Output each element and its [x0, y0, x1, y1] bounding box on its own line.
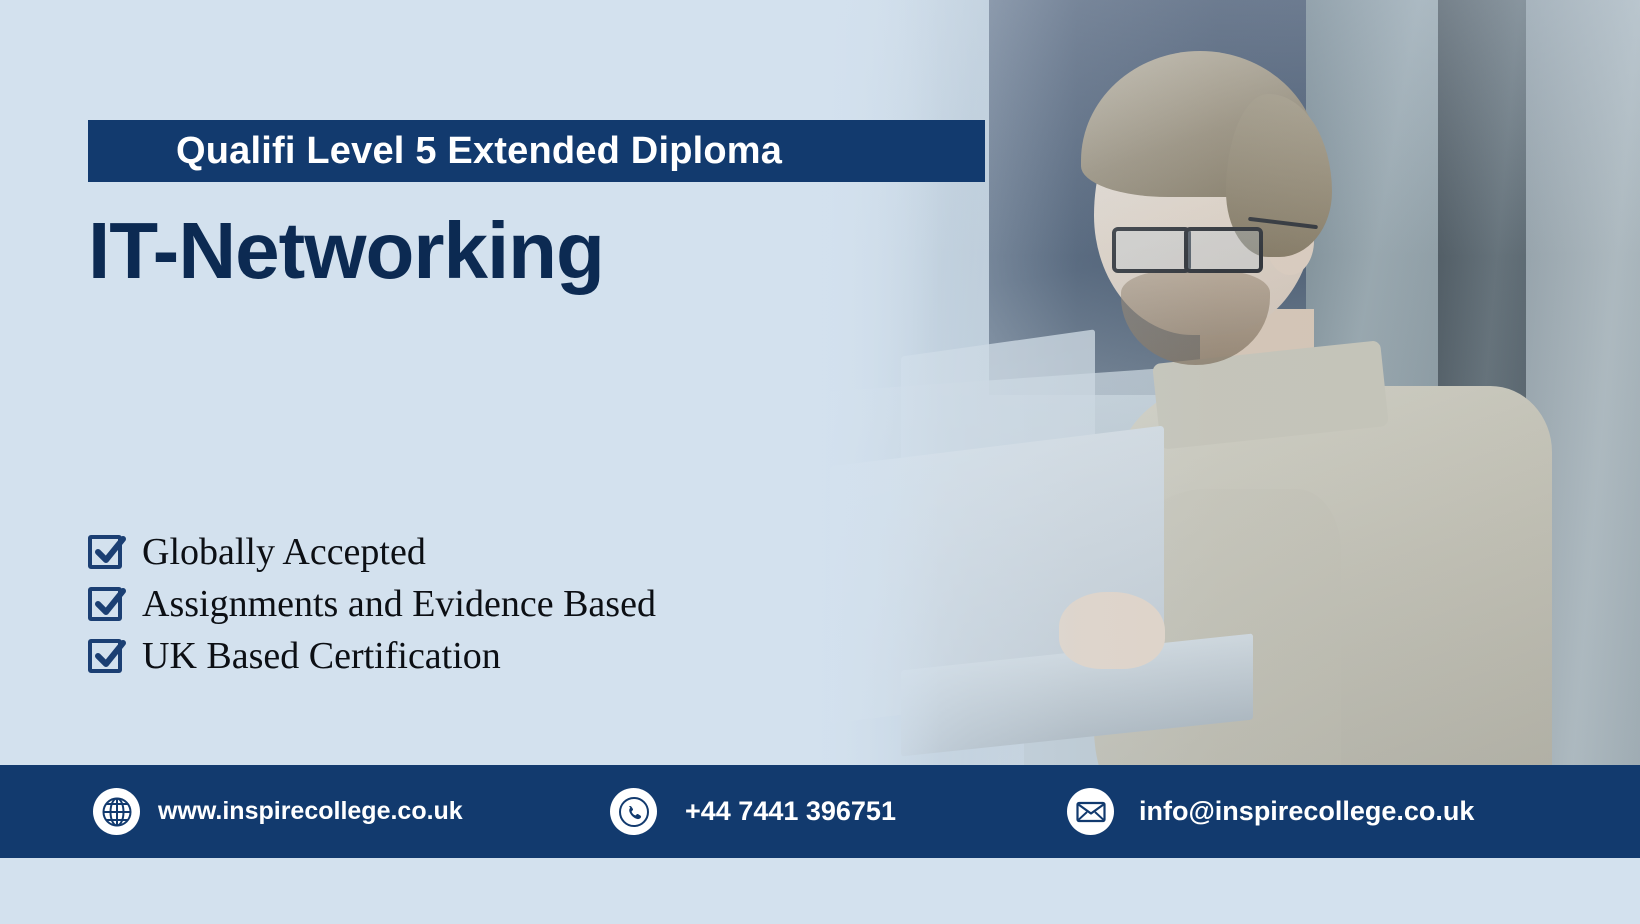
phone-label: +44 7441 396751 [685, 796, 896, 827]
phone-icon [610, 788, 657, 835]
email-label: info@inspirecollege.co.uk [1139, 796, 1474, 827]
list-item: Assignments and Evidence Based [88, 585, 656, 623]
content-panel: Qualifi Level 5 Extended Diploma IT-Netw… [0, 0, 1060, 765]
bottom-strip [0, 858, 1640, 924]
checkbox-checked-icon [88, 639, 122, 673]
page-title: IT-Networking [88, 209, 604, 293]
feature-list: Globally Accepted Assignments and Eviden… [88, 533, 656, 675]
feature-label: Globally Accepted [142, 533, 426, 571]
feature-label: Assignments and Evidence Based [142, 585, 656, 623]
envelope-icon [1067, 788, 1114, 835]
checkbox-checked-icon [88, 587, 122, 621]
contact-footer-bar: www.inspirecollege.co.uk +44 7441 396751 [0, 765, 1640, 858]
contact-email[interactable]: info@inspirecollege.co.uk [1067, 788, 1474, 835]
website-label: www.inspirecollege.co.uk [158, 797, 463, 826]
checkbox-checked-icon [88, 535, 122, 569]
course-promo-banner: Qualifi Level 5 Extended Diploma IT-Netw… [0, 0, 1640, 924]
list-item: UK Based Certification [88, 637, 656, 675]
qualification-badge-label: Qualifi Level 5 Extended Diploma [176, 130, 782, 173]
contact-phone[interactable]: +44 7441 396751 [610, 788, 896, 835]
list-item: Globally Accepted [88, 533, 656, 571]
globe-icon [93, 788, 140, 835]
qualification-badge: Qualifi Level 5 Extended Diploma [88, 120, 985, 182]
feature-label: UK Based Certification [142, 637, 501, 675]
contact-website[interactable]: www.inspirecollege.co.uk [93, 788, 463, 835]
